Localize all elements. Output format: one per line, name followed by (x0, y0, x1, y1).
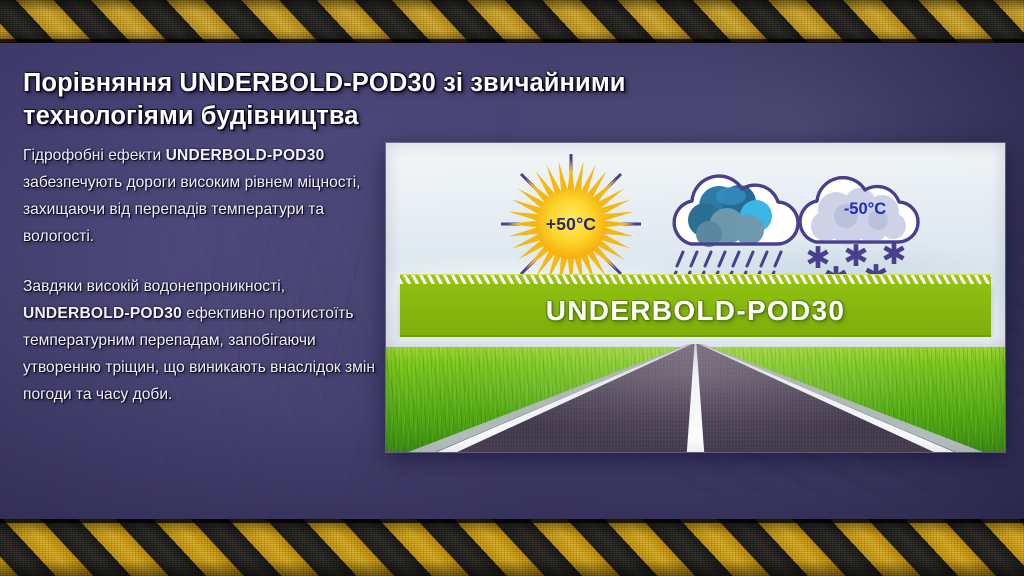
paragraph-2-lead: Завдяки високій водонепроникності, (23, 278, 285, 295)
paragraph-2-brand: UNDERBOLD-POD30 (23, 305, 182, 322)
banner-hatched-strip (400, 274, 991, 284)
hazard-shading-bottom (0, 519, 1024, 576)
snow-temperature-label: -50°C (790, 200, 940, 219)
slide-title: Порівняння UNDERBOLD-POD30 зі звичайними… (23, 67, 683, 133)
paragraph-1-lead: Гідрофобні ефекти (23, 147, 166, 164)
banner-label: UNDERBOLD-POD30 (546, 295, 846, 327)
paragraph-1-brand: UNDERBOLD-POD30 (166, 147, 325, 164)
paragraph-1-rest: забезпечують дороги високим рівнем міцно… (23, 174, 361, 245)
road-photo (386, 337, 1005, 452)
hazard-stripe-bar-bottom (0, 519, 1024, 576)
body-copy: Гідрофобні ефекти UNDERBOLD-POD30 забезп… (23, 143, 383, 409)
ground-highlight (386, 337, 1005, 452)
banner-body: UNDERBOLD-POD30 (400, 284, 991, 337)
hazard-shading-top (0, 0, 1024, 43)
paragraph-2: Завдяки високій водонепроникності, UNDER… (23, 274, 383, 409)
hazard-stripe-bar-top (0, 0, 1024, 43)
sun-icon: +50°C (503, 156, 639, 292)
hazard-edge-top (0, 39, 1024, 43)
sun-temperature-label: +50°C (503, 156, 639, 292)
paragraph-1: Гідрофобні ефекти UNDERBOLD-POD30 забезп… (23, 143, 383, 251)
hazard-edge-bottom (0, 519, 1024, 523)
slide-root: Порівняння UNDERBOLD-POD30 зі звичайними… (0, 0, 1024, 576)
product-banner: UNDERBOLD-POD30 (400, 274, 991, 337)
illustration-panel: +50°C (386, 143, 1005, 452)
